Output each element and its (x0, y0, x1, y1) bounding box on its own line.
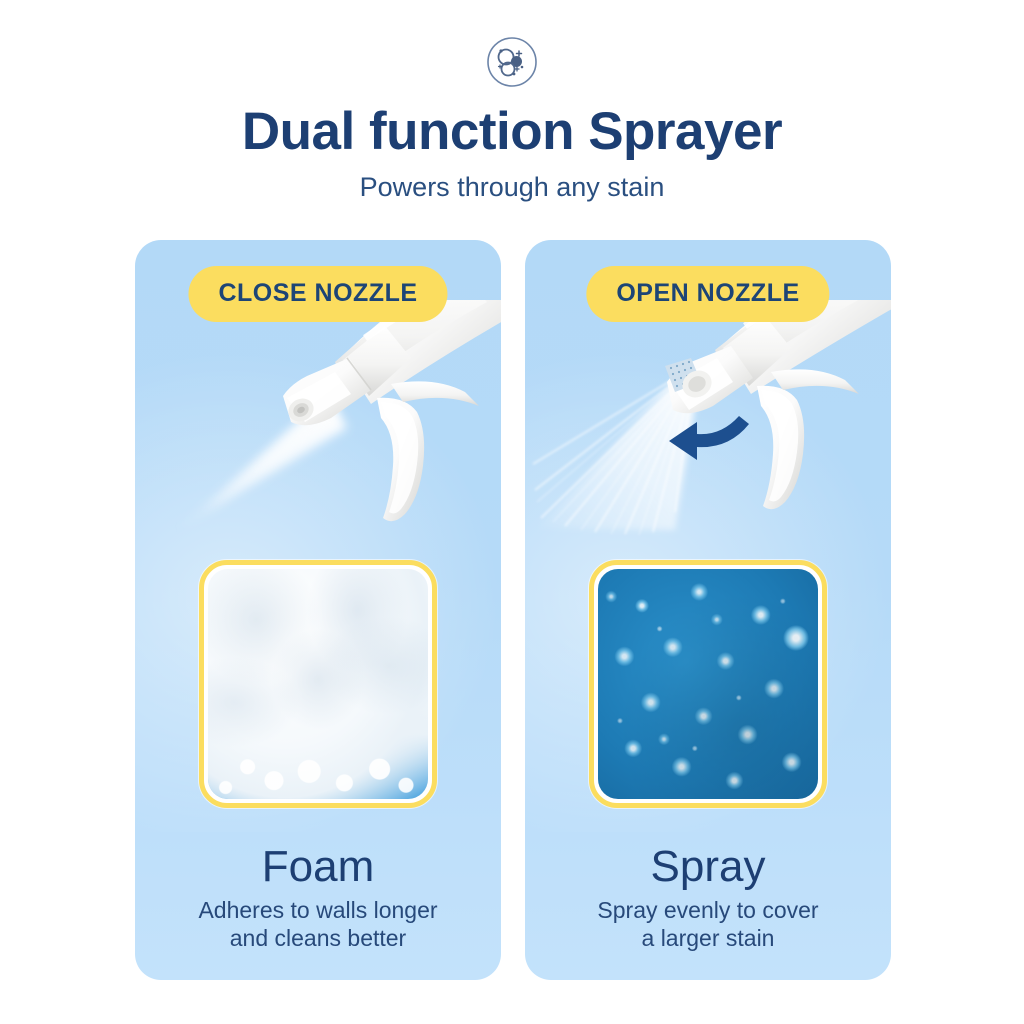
bubbles-circle-logo (484, 34, 540, 90)
narrow-foam-stream-shape (175, 404, 347, 532)
badge-open-nozzle[interactable]: OPEN NOZZLE (586, 266, 829, 322)
caption-foam: Foam Adheres to walls longer and cleans … (135, 844, 501, 952)
caption-desc-spray: Spray evenly to cover a larger stain (525, 896, 891, 952)
foam-texture-swatch (199, 560, 437, 808)
header: Dual function Sprayer Powers through any… (0, 0, 1024, 203)
badge-close-nozzle[interactable]: CLOSE NOZZLE (188, 266, 447, 322)
foam-texture-image (208, 569, 428, 799)
caption-spray: Spray Spray evenly to cover a larger sta… (525, 844, 891, 952)
water-droplets-swatch (589, 560, 827, 808)
sprayer-body-open (665, 300, 891, 509)
swatch-image-frame (598, 569, 818, 799)
swatch-image-frame (208, 569, 428, 799)
droplets-texture-image (598, 569, 818, 799)
caption-title-foam: Foam (135, 844, 501, 890)
caption-desc-foam: Adheres to walls longer and cleans bette… (135, 896, 501, 952)
sprayer-body (283, 300, 501, 521)
sprayer-illustration-foam (135, 300, 501, 600)
page-subtitle: Powers through any stain (0, 172, 1024, 203)
page-title: Dual function Sprayer (0, 104, 1024, 160)
panel-spray: OPEN NOZZLE (525, 240, 891, 980)
caption-title-spray: Spray (525, 844, 891, 890)
sprayer-illustration-spray (525, 300, 891, 600)
panel-foam: CLOSE NOZZLE (135, 240, 501, 980)
comparison-panels: CLOSE NOZZLE (135, 240, 891, 980)
